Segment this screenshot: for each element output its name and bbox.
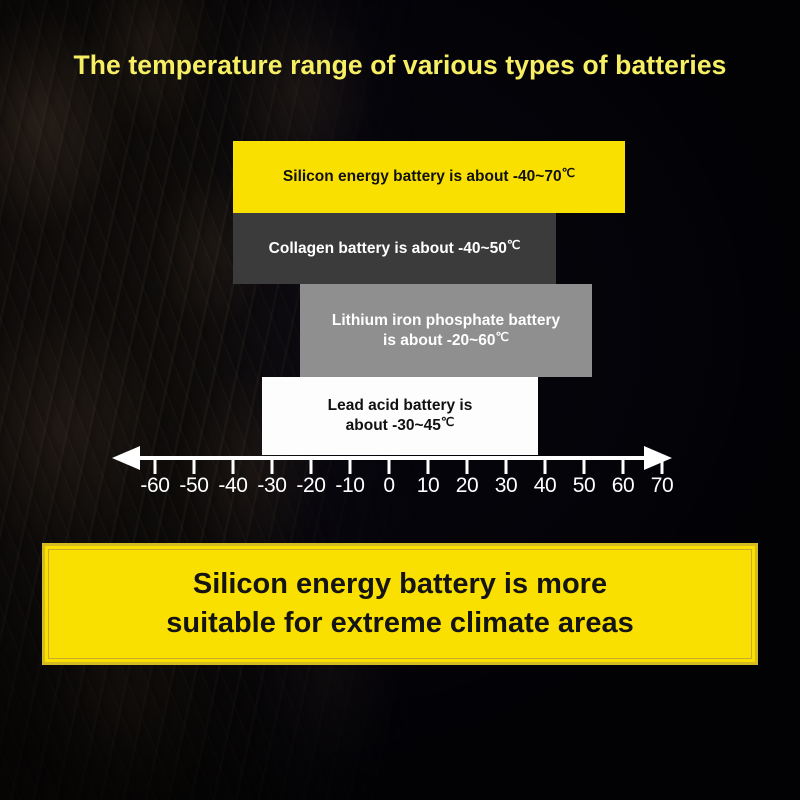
temperature-range-infographic: The temperature range of various types o… [0, 0, 800, 800]
axis-svg [0, 0, 800, 800]
conclusion-line-2: suitable for extreme climate areas [166, 604, 633, 643]
axis-ticks [155, 458, 662, 474]
axis-tick-labels: -60 -50 -40 -30 -20 -10 0 10 20 30 40 50… [0, 474, 800, 506]
axis-tick-label: 70 [632, 474, 692, 498]
conclusion-banner-inner: Silicon energy battery is more suitable … [48, 549, 752, 659]
temperature-axis: -60 -50 -40 -30 -20 -10 0 10 20 30 40 50… [0, 0, 800, 800]
conclusion-banner: Silicon energy battery is more suitable … [42, 543, 758, 665]
axis-arrow-left-icon [112, 446, 140, 470]
conclusion-line-1: Silicon energy battery is more [193, 565, 607, 604]
axis-arrow-right-icon [644, 446, 672, 470]
